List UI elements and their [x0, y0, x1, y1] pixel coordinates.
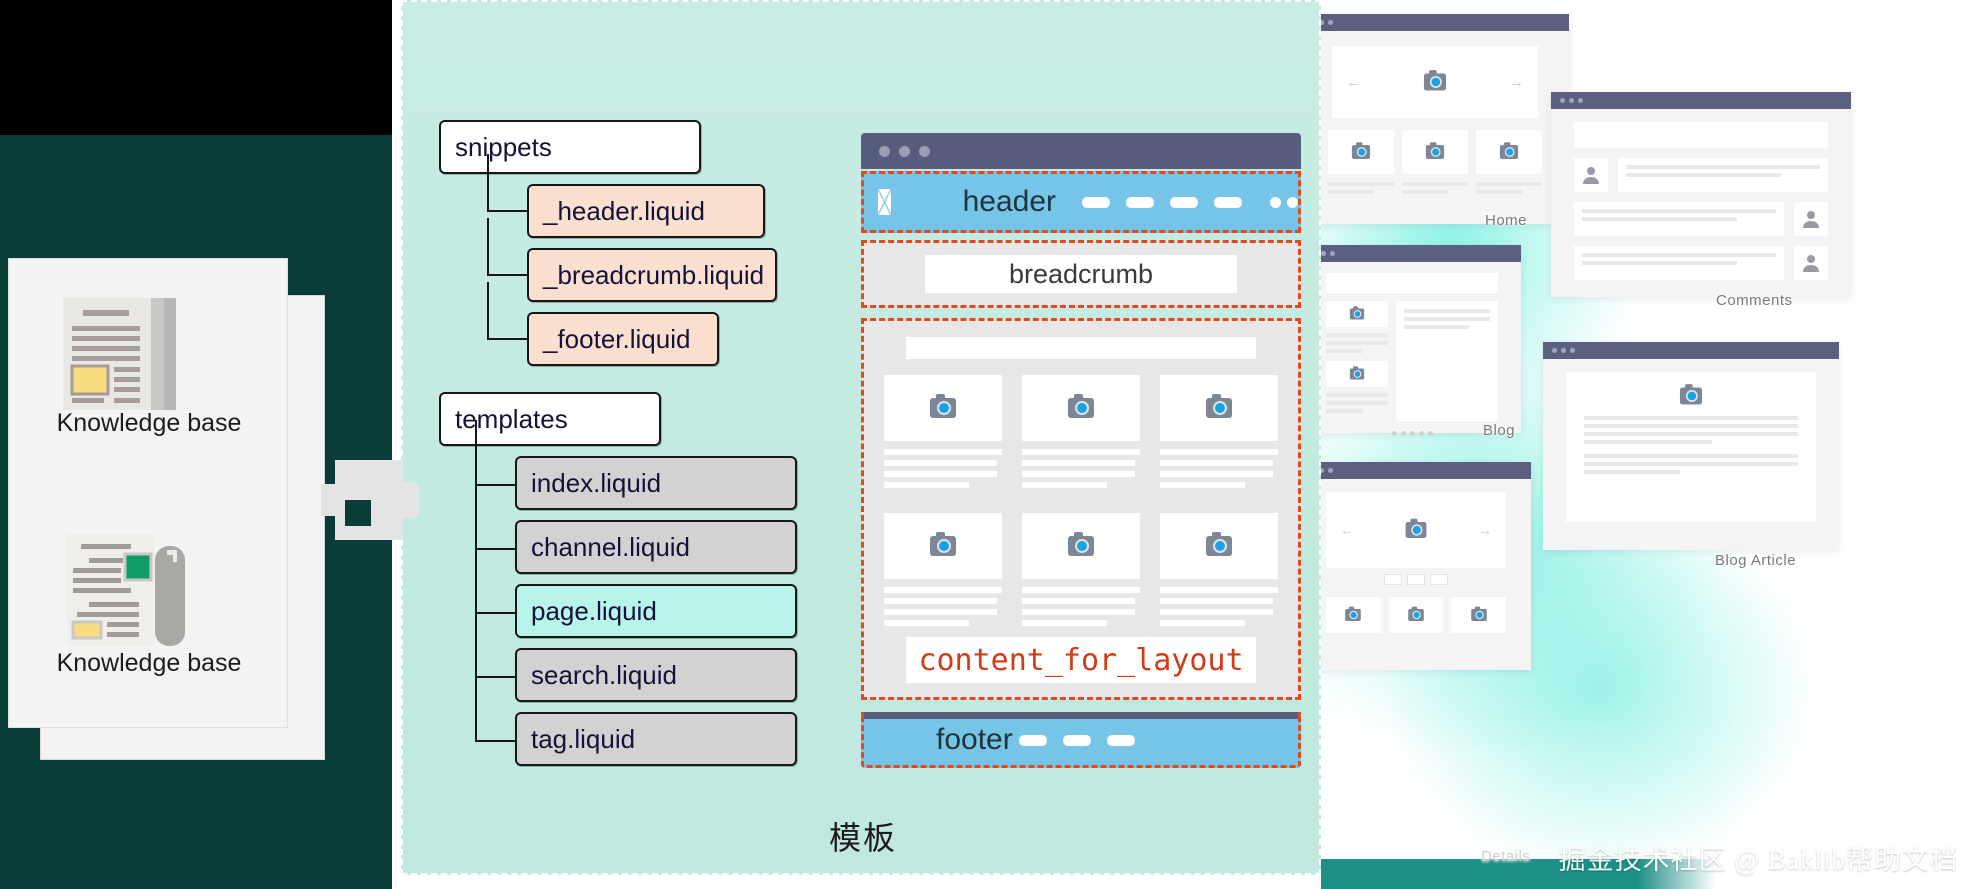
- tree-group-templates-label: templates: [455, 404, 568, 434]
- knowledge-base-tile-2[interactable]: Knowledge base: [9, 494, 289, 729]
- window-dot-icon: [899, 146, 910, 157]
- nav-dot-icon: [1382, 735, 1393, 746]
- content-card[interactable]: [884, 513, 1002, 631]
- document-page-icon: [61, 294, 181, 414]
- nav-dot-icon: [1365, 735, 1376, 746]
- content-card-grid: [884, 375, 1278, 631]
- camera-icon: [1068, 398, 1094, 418]
- preview-body: [1543, 359, 1839, 535]
- preview-label-blog-article: Blog Article: [1715, 552, 1796, 569]
- footer-accent-line: [864, 712, 1298, 719]
- pagination-dot-icon[interactable]: [1392, 431, 1397, 436]
- footer-nav-dashes: [1019, 735, 1135, 746]
- left-black-band: [0, 0, 392, 135]
- tree-item-search-liquid[interactable]: search.liquid: [515, 648, 797, 702]
- knowledge-base-label-1: Knowledge base: [9, 409, 289, 438]
- nav-dash-icon: [1082, 197, 1110, 208]
- preview-titlebar: [1321, 462, 1531, 479]
- preview-body: ← →: [1321, 31, 1569, 207]
- layout-block-footer[interactable]: footer: [861, 712, 1301, 768]
- preview-label-blog: Blog: [1483, 422, 1515, 439]
- nav-dash-icon: [1063, 735, 1091, 746]
- window-dot-icon: [1328, 468, 1333, 473]
- chevron-right-icon: →: [1509, 74, 1524, 91]
- template-caption: 模板: [403, 813, 1323, 859]
- header-nav-dashes: [1082, 197, 1242, 208]
- footer-nav-dots: [1365, 735, 1393, 746]
- tree-item-label: index.liquid: [531, 468, 661, 498]
- nav-dash-icon: [1170, 197, 1198, 208]
- content-for-layout-label: content_for_layout: [906, 637, 1256, 683]
- camera-icon: [1408, 609, 1424, 621]
- footer-block-label: footer: [936, 723, 1013, 757]
- nav-dash-icon: [1107, 735, 1135, 746]
- content-card[interactable]: [1160, 375, 1278, 493]
- content-card-lines: [1160, 449, 1278, 493]
- tree-item-search-liquid-row: search.liquid: [475, 648, 779, 702]
- tree-item-channel-liquid[interactable]: channel.liquid: [515, 520, 797, 574]
- header-nav-dots: [1270, 197, 1298, 208]
- tree-item-tag-liquid-row: tag.liquid: [475, 712, 779, 766]
- window-dot-icon: [1569, 98, 1574, 103]
- tree-group-templates[interactable]: templates: [439, 392, 661, 446]
- tree-item-header-liquid-row: _header.liquid: [487, 184, 779, 238]
- window-dot-icon: [1552, 348, 1557, 353]
- tree-item-index-liquid-row: index.liquid: [475, 456, 779, 510]
- tree-item-label: tag.liquid: [531, 724, 635, 754]
- user-avatar-icon: [1801, 209, 1821, 229]
- tree-item-label: _breadcrumb.liquid: [543, 260, 764, 290]
- content-card-thumb: [884, 375, 1002, 441]
- pagination-dot-icon[interactable]: [1428, 431, 1433, 436]
- tree-item-page-liquid-row: page.liquid: [475, 584, 779, 638]
- content-card-lines: [884, 587, 1002, 631]
- tree-item-breadcrumb-liquid-row: _breadcrumb.liquid: [487, 248, 779, 302]
- nav-dot-icon: [1270, 197, 1281, 208]
- preview-label-details: Details: [1481, 848, 1530, 865]
- window-dot-icon: [1321, 468, 1324, 473]
- knowledge-base-card: Knowledge base Knowledge base: [8, 258, 288, 728]
- camera-icon: [1426, 145, 1444, 159]
- camera-icon: [1350, 309, 1364, 320]
- preview-body: ← →: [1321, 479, 1531, 642]
- tree-item-label: channel.liquid: [531, 532, 690, 562]
- nav-dash-icon: [1214, 197, 1242, 208]
- content-card-thumb: [1160, 375, 1278, 441]
- chevron-left-icon: ←: [1346, 74, 1361, 91]
- window-dot-icon: [919, 146, 930, 157]
- tree-item-index-liquid[interactable]: index.liquid: [515, 456, 797, 510]
- watermark: 掘金技术社区 @ Baklib帮助文档: [1559, 838, 1958, 877]
- camera-icon: [1424, 74, 1446, 91]
- puzzle-connector-notch: [345, 500, 371, 526]
- window-dot-icon: [1561, 348, 1566, 353]
- layout-block-breadcrumb[interactable]: breadcrumb: [861, 240, 1301, 308]
- window-dot-icon: [1321, 20, 1324, 25]
- content-card[interactable]: [1160, 513, 1278, 631]
- envelope-icon: [878, 189, 891, 215]
- preview-window-details[interactable]: ← →: [1321, 462, 1531, 670]
- screenshot-root: Knowledge base Knowledge base: [0, 0, 1980, 889]
- pagination-dot-icon[interactable]: [1410, 431, 1415, 436]
- browser-titlebar: [861, 133, 1301, 169]
- camera-icon: [1500, 145, 1518, 159]
- camera-icon: [1352, 145, 1370, 159]
- pagination-dot-icon[interactable]: [1419, 431, 1424, 436]
- preview-body: [1551, 109, 1851, 299]
- camera-icon: [1680, 388, 1702, 405]
- tree-item-page-liquid[interactable]: page.liquid: [515, 584, 797, 638]
- preview-titlebar: [1543, 342, 1839, 359]
- tree-group-snippets[interactable]: snippets: [439, 120, 701, 174]
- preview-titlebar: [1321, 14, 1569, 31]
- nav-dash-icon: [1019, 735, 1047, 746]
- content-card-thumb: [1160, 513, 1278, 579]
- nav-dot-icon: [1287, 197, 1298, 208]
- preview-titlebar: [1551, 92, 1851, 109]
- content-card-lines: [1022, 449, 1140, 493]
- tree-item-label: search.liquid: [531, 660, 677, 690]
- content-card-thumb: [1022, 513, 1140, 579]
- layout-block-content[interactable]: content_for_layout: [861, 318, 1301, 700]
- nav-dash-icon: [1126, 197, 1154, 208]
- camera-icon: [1471, 609, 1487, 621]
- chevron-left-icon: ←: [1340, 522, 1354, 538]
- preview-window-home[interactable]: ← →: [1321, 14, 1569, 224]
- tree-item-tag-liquid[interactable]: tag.liquid: [515, 712, 797, 766]
- tree-item-label: page.liquid: [531, 596, 657, 626]
- template-diagram-panel: snippets _header.liquid _breadcrumb.liqu…: [401, 0, 1321, 875]
- tree-item-label: _header.liquid: [543, 196, 705, 226]
- content-card[interactable]: [884, 375, 1002, 493]
- header-block-label: header: [963, 185, 1056, 219]
- chevron-right-icon: →: [1478, 522, 1492, 538]
- camera-icon: [1346, 609, 1362, 621]
- camera-icon: [930, 536, 956, 556]
- camera-icon: [1206, 536, 1232, 556]
- content-card-lines: [1160, 587, 1278, 631]
- window-dot-icon: [879, 146, 890, 157]
- content-card[interactable]: [1022, 513, 1140, 631]
- camera-icon: [1206, 398, 1232, 418]
- tree-item-channel-liquid-row: channel.liquid: [475, 520, 779, 574]
- preview-window-blog-article[interactable]: [1543, 342, 1839, 550]
- tree-item-breadcrumb-liquid[interactable]: _breadcrumb.liquid: [527, 248, 777, 302]
- document-stack-icon: [67, 532, 189, 650]
- content-top-strip: [906, 337, 1256, 359]
- layout-block-header[interactable]: header: [861, 171, 1301, 233]
- preview-window-blog[interactable]: [1321, 245, 1521, 433]
- camera-icon: [1406, 522, 1427, 538]
- window-dot-icon: [1321, 251, 1326, 256]
- tree-item-header-liquid[interactable]: _header.liquid: [527, 184, 765, 238]
- pagination-dot-icon[interactable]: [1401, 431, 1406, 436]
- site-previews-panel: ← → Home: [1321, 0, 1980, 889]
- preview-body: [1321, 262, 1521, 445]
- preview-titlebar: [1321, 245, 1521, 262]
- camera-icon: [1350, 369, 1364, 380]
- user-avatar-icon: [1801, 253, 1821, 273]
- window-dot-icon: [1560, 98, 1565, 103]
- content-card-lines: [1022, 587, 1140, 631]
- preview-window-comments[interactable]: [1551, 92, 1851, 297]
- tree-group-snippets-label: snippets: [455, 132, 552, 162]
- preview-label-comments: Comments: [1716, 292, 1793, 309]
- knowledge-base-tile-1[interactable]: Knowledge base: [9, 259, 289, 494]
- camera-icon: [930, 398, 956, 418]
- window-dot-icon: [1328, 20, 1333, 25]
- content-card[interactable]: [1022, 375, 1140, 493]
- layout-browser-mock: header breadcrumb: [861, 133, 1301, 768]
- tree-item-label: _footer.liquid: [543, 324, 690, 354]
- window-dot-icon: [1578, 98, 1583, 103]
- content-card-thumb: [884, 513, 1002, 579]
- knowledge-base-label-2: Knowledge base: [9, 649, 289, 678]
- camera-icon: [1068, 536, 1094, 556]
- window-dot-icon: [1330, 251, 1335, 256]
- window-dot-icon: [1570, 348, 1575, 353]
- content-card-lines: [884, 449, 1002, 493]
- tree-item-footer-liquid-row: _footer.liquid: [487, 312, 779, 366]
- preview-label-home: Home: [1485, 212, 1527, 229]
- user-avatar-icon: [1581, 165, 1601, 185]
- breadcrumb-block-label: breadcrumb: [925, 255, 1237, 293]
- content-card-thumb: [1022, 375, 1140, 441]
- tree-item-footer-liquid[interactable]: _footer.liquid: [527, 312, 719, 366]
- file-tree: snippets _header.liquid _breadcrumb.liqu…: [439, 120, 779, 766]
